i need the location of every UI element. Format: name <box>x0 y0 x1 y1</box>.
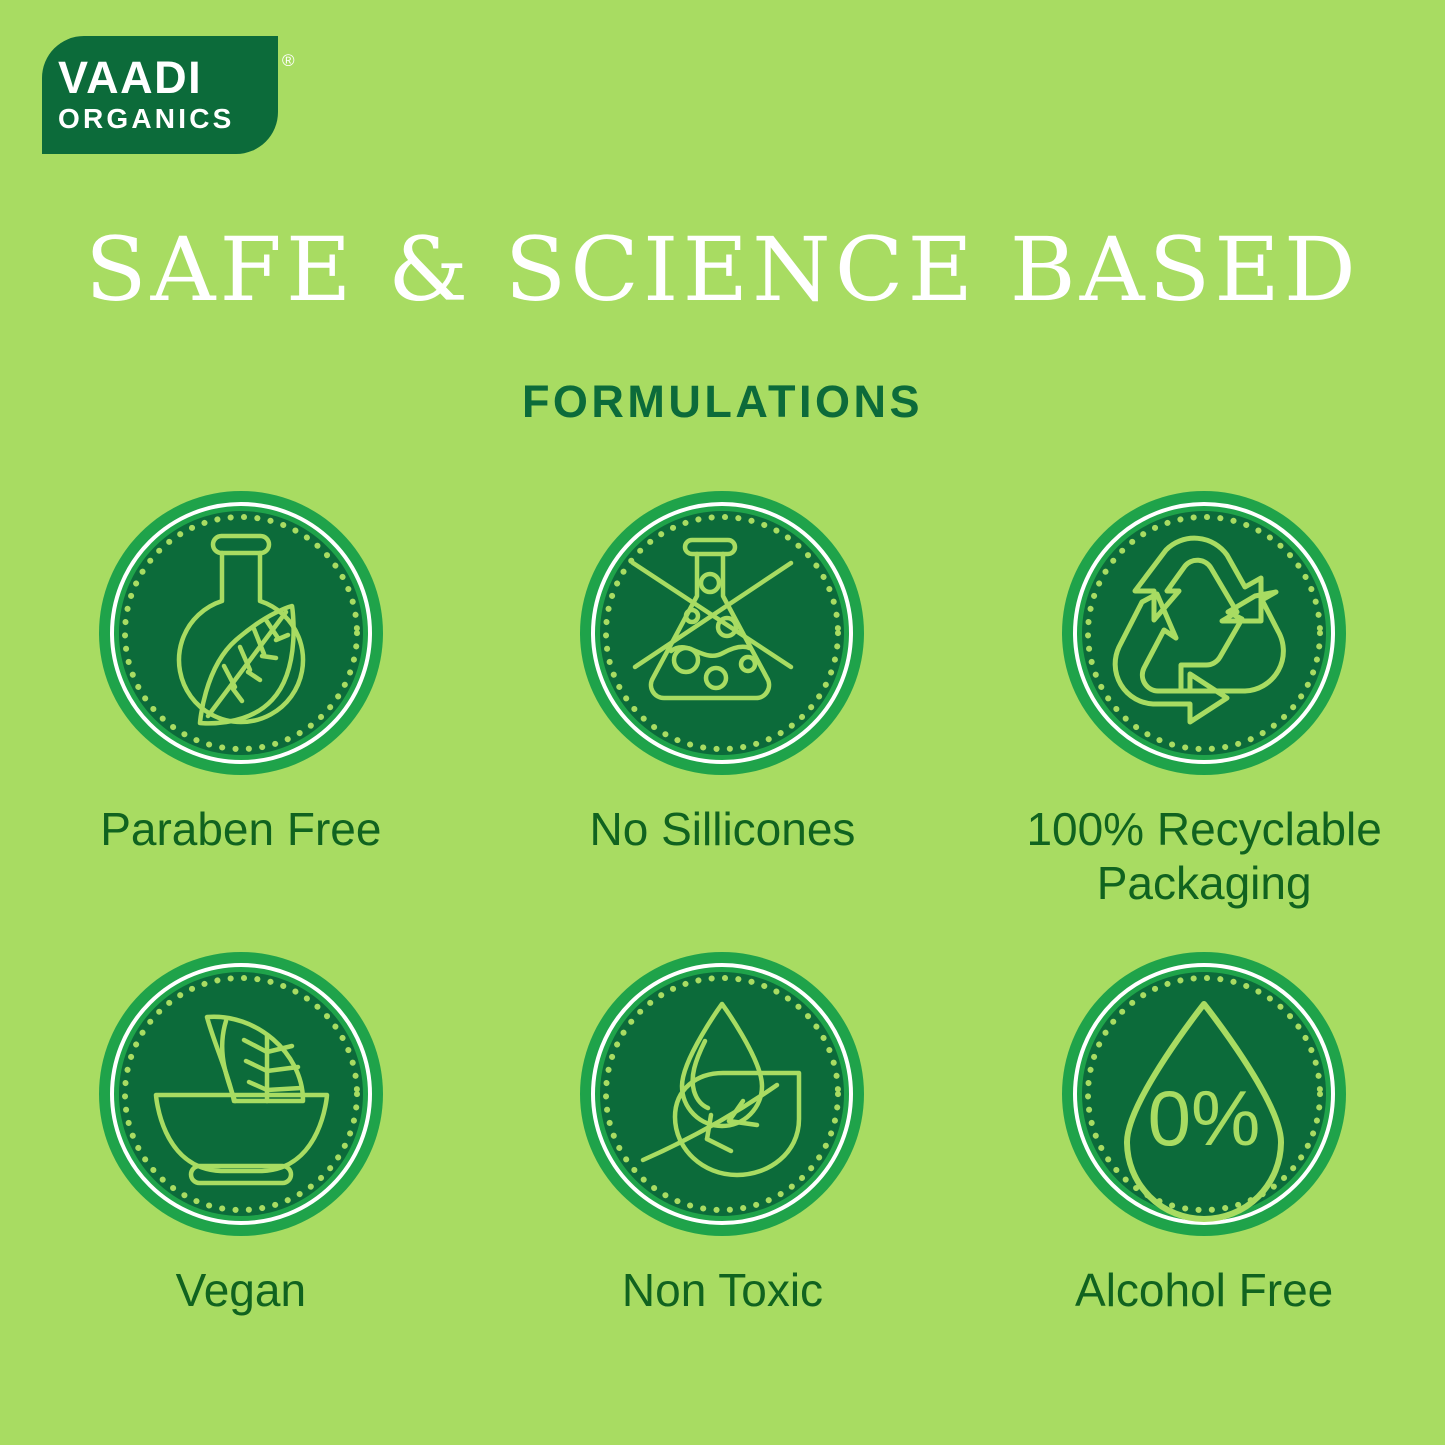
flask-leaf-icon <box>96 488 386 778</box>
registered-trademark-icon: ® <box>282 52 296 69</box>
feature-cell-no-sillicones: No Sillicones <box>482 488 964 911</box>
droplet-zero-percent-icon: 0% <box>1059 949 1349 1239</box>
badge-label-line-2: Packaging <box>1026 856 1381 910</box>
badge-label-recyclable-packaging: 100% Recyclable Packaging <box>1026 802 1381 911</box>
brand-logo: VAADI® ORGANICS <box>42 36 278 154</box>
feature-cell-non-toxic: Non Toxic <box>482 933 964 1317</box>
badge-label-non-toxic: Non Toxic <box>622 1263 823 1317</box>
badge-non-toxic <box>577 949 867 1239</box>
page-title: SAFE & SCIENCE BASED <box>0 226 1445 314</box>
badge-no-sillicones <box>577 488 867 778</box>
badge-label-alcohol-free: Alcohol Free <box>1075 1263 1333 1317</box>
droplet-leaf-icon <box>577 949 867 1239</box>
zero-percent-label: 0% <box>1148 1074 1261 1162</box>
recycle-icon <box>1059 488 1349 778</box>
page-subtitle: FORMULATIONS <box>0 376 1445 428</box>
feature-cell-alcohol-free: 0% Alcohol Free <box>963 933 1445 1317</box>
feature-cell-vegan: Vegan <box>0 933 482 1317</box>
badge-label-paraben-free: Paraben Free <box>100 802 381 856</box>
badge-paraben-free <box>96 488 386 778</box>
mortar-bowl-leaf-icon <box>96 949 386 1239</box>
badge-vegan <box>96 949 386 1239</box>
badge-recyclable-packaging <box>1059 488 1349 778</box>
badge-label-line-1: 100% Recyclable <box>1026 802 1381 856</box>
crossed-out-flask-icon <box>577 488 867 778</box>
feature-cell-recyclable-packaging: 100% Recyclable Packaging <box>963 488 1445 911</box>
feature-badge-grid: Paraben Free <box>0 488 1445 1317</box>
badge-label-no-sillicones: No Sillicones <box>590 802 856 856</box>
brand-name-secondary: ORGANICS <box>58 104 278 135</box>
feature-cell-paraben-free: Paraben Free <box>0 488 482 911</box>
badge-label-vegan: Vegan <box>176 1263 306 1317</box>
brand-name-primary: VAADI® <box>58 55 278 100</box>
brand-name-text: VAADI <box>58 52 202 103</box>
badge-alcohol-free: 0% <box>1059 949 1349 1239</box>
